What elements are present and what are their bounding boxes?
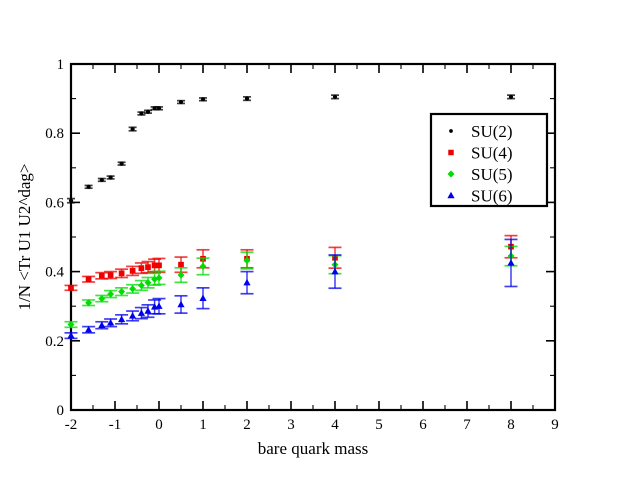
marker-circle xyxy=(120,162,124,166)
data-point xyxy=(243,97,251,101)
marker-circle xyxy=(87,185,91,189)
x-tick-label: -2 xyxy=(65,417,78,433)
y-tick-label: 0.6 xyxy=(45,195,64,211)
x-tick-label: 3 xyxy=(287,417,295,433)
marker-square xyxy=(156,263,162,269)
y-tick-label: 0.8 xyxy=(45,126,64,142)
marker-circle xyxy=(509,95,513,99)
marker-circle xyxy=(131,127,135,131)
marker-circle xyxy=(100,178,104,182)
x-tick-label: 7 xyxy=(463,417,471,433)
marker-circle xyxy=(146,110,150,114)
data-point xyxy=(177,100,185,104)
x-tick-label: 8 xyxy=(507,417,515,433)
marker-square xyxy=(139,265,145,271)
series-su4 xyxy=(65,236,518,291)
x-tick-label: 1 xyxy=(199,417,207,433)
data-point xyxy=(107,175,115,179)
data-point xyxy=(241,272,254,294)
marker-circle xyxy=(449,129,453,133)
data-point xyxy=(95,321,108,328)
marker-diamond xyxy=(107,290,114,297)
marker-square xyxy=(178,262,184,268)
x-tick-label: 4 xyxy=(331,417,339,433)
marker-triangle xyxy=(199,295,206,301)
marker-triangle xyxy=(507,259,514,265)
figure-canvas: -2-1012345678900.20.40.60.81bare quark m… xyxy=(0,0,623,481)
y-tick-label: 0.2 xyxy=(45,334,64,350)
marker-square xyxy=(68,285,74,291)
marker-diamond xyxy=(118,288,125,295)
data-point xyxy=(197,258,210,275)
marker-square xyxy=(86,276,92,282)
marker-triangle xyxy=(129,312,136,318)
data-point xyxy=(197,288,210,309)
y-axis-title-group: 1/N <Tr U1 U2^dag> xyxy=(15,164,34,311)
x-tick-label: 5 xyxy=(375,417,383,433)
data-point xyxy=(104,319,117,327)
data-point xyxy=(65,321,78,328)
marker-circle xyxy=(69,199,73,203)
legend-label: SU(4) xyxy=(471,144,513,163)
marker-circle xyxy=(333,95,337,99)
data-point xyxy=(98,178,106,182)
marker-circle xyxy=(179,100,183,104)
legend-label: SU(5) xyxy=(471,165,513,184)
marker-diamond xyxy=(129,285,136,292)
legend-label: SU(6) xyxy=(471,187,513,206)
x-tick-label: -1 xyxy=(109,417,122,433)
data-point xyxy=(85,185,93,189)
legend-label: SU(2) xyxy=(471,122,513,141)
marker-triangle xyxy=(118,316,125,322)
marker-triangle xyxy=(155,302,162,308)
marker-circle xyxy=(109,175,113,179)
marker-square xyxy=(130,268,136,274)
y-axis-title: 1/N <Tr U1 U2^dag> xyxy=(15,164,34,311)
marker-square xyxy=(108,272,114,278)
scatter-plot: -2-1012345678900.20.40.60.81bare quark m… xyxy=(0,0,623,481)
data-point xyxy=(329,255,342,288)
marker-circle xyxy=(139,111,143,115)
marker-diamond xyxy=(200,263,207,270)
marker-square xyxy=(99,273,105,279)
x-tick-label: 9 xyxy=(551,417,559,433)
data-point xyxy=(104,290,117,297)
marker-square xyxy=(448,150,453,155)
data-point xyxy=(82,276,95,282)
data-point xyxy=(241,252,254,269)
marker-square xyxy=(119,270,125,276)
data-point xyxy=(95,295,108,302)
legend[interactable]: SU(2)SU(4)SU(5)SU(6) xyxy=(431,114,547,206)
data-point xyxy=(175,296,188,313)
data-point xyxy=(129,127,137,131)
x-tick-label: 6 xyxy=(419,417,427,433)
y-tick-label: 0.4 xyxy=(45,265,64,281)
y-tick-label: 1 xyxy=(57,57,65,73)
data-point xyxy=(331,95,339,99)
marker-circle xyxy=(157,106,161,110)
y-tick-label: 0 xyxy=(57,403,65,419)
data-point xyxy=(118,162,126,166)
marker-square xyxy=(145,264,151,270)
marker-circle xyxy=(201,97,205,101)
data-point xyxy=(507,95,515,99)
x-axis-title: bare quark mass xyxy=(258,439,368,458)
data-point xyxy=(82,299,95,306)
data-point xyxy=(67,199,75,203)
data-point xyxy=(65,332,78,339)
data-point xyxy=(82,326,95,333)
data-point xyxy=(65,285,78,291)
marker-triangle xyxy=(243,279,250,285)
marker-circle xyxy=(245,97,249,101)
data-point xyxy=(175,268,188,283)
data-point xyxy=(199,97,207,101)
data-point xyxy=(126,285,139,293)
data-point xyxy=(115,288,128,296)
x-tick-label: 0 xyxy=(155,417,163,433)
marker-triangle xyxy=(177,301,184,307)
x-tick-label: 2 xyxy=(243,417,251,433)
